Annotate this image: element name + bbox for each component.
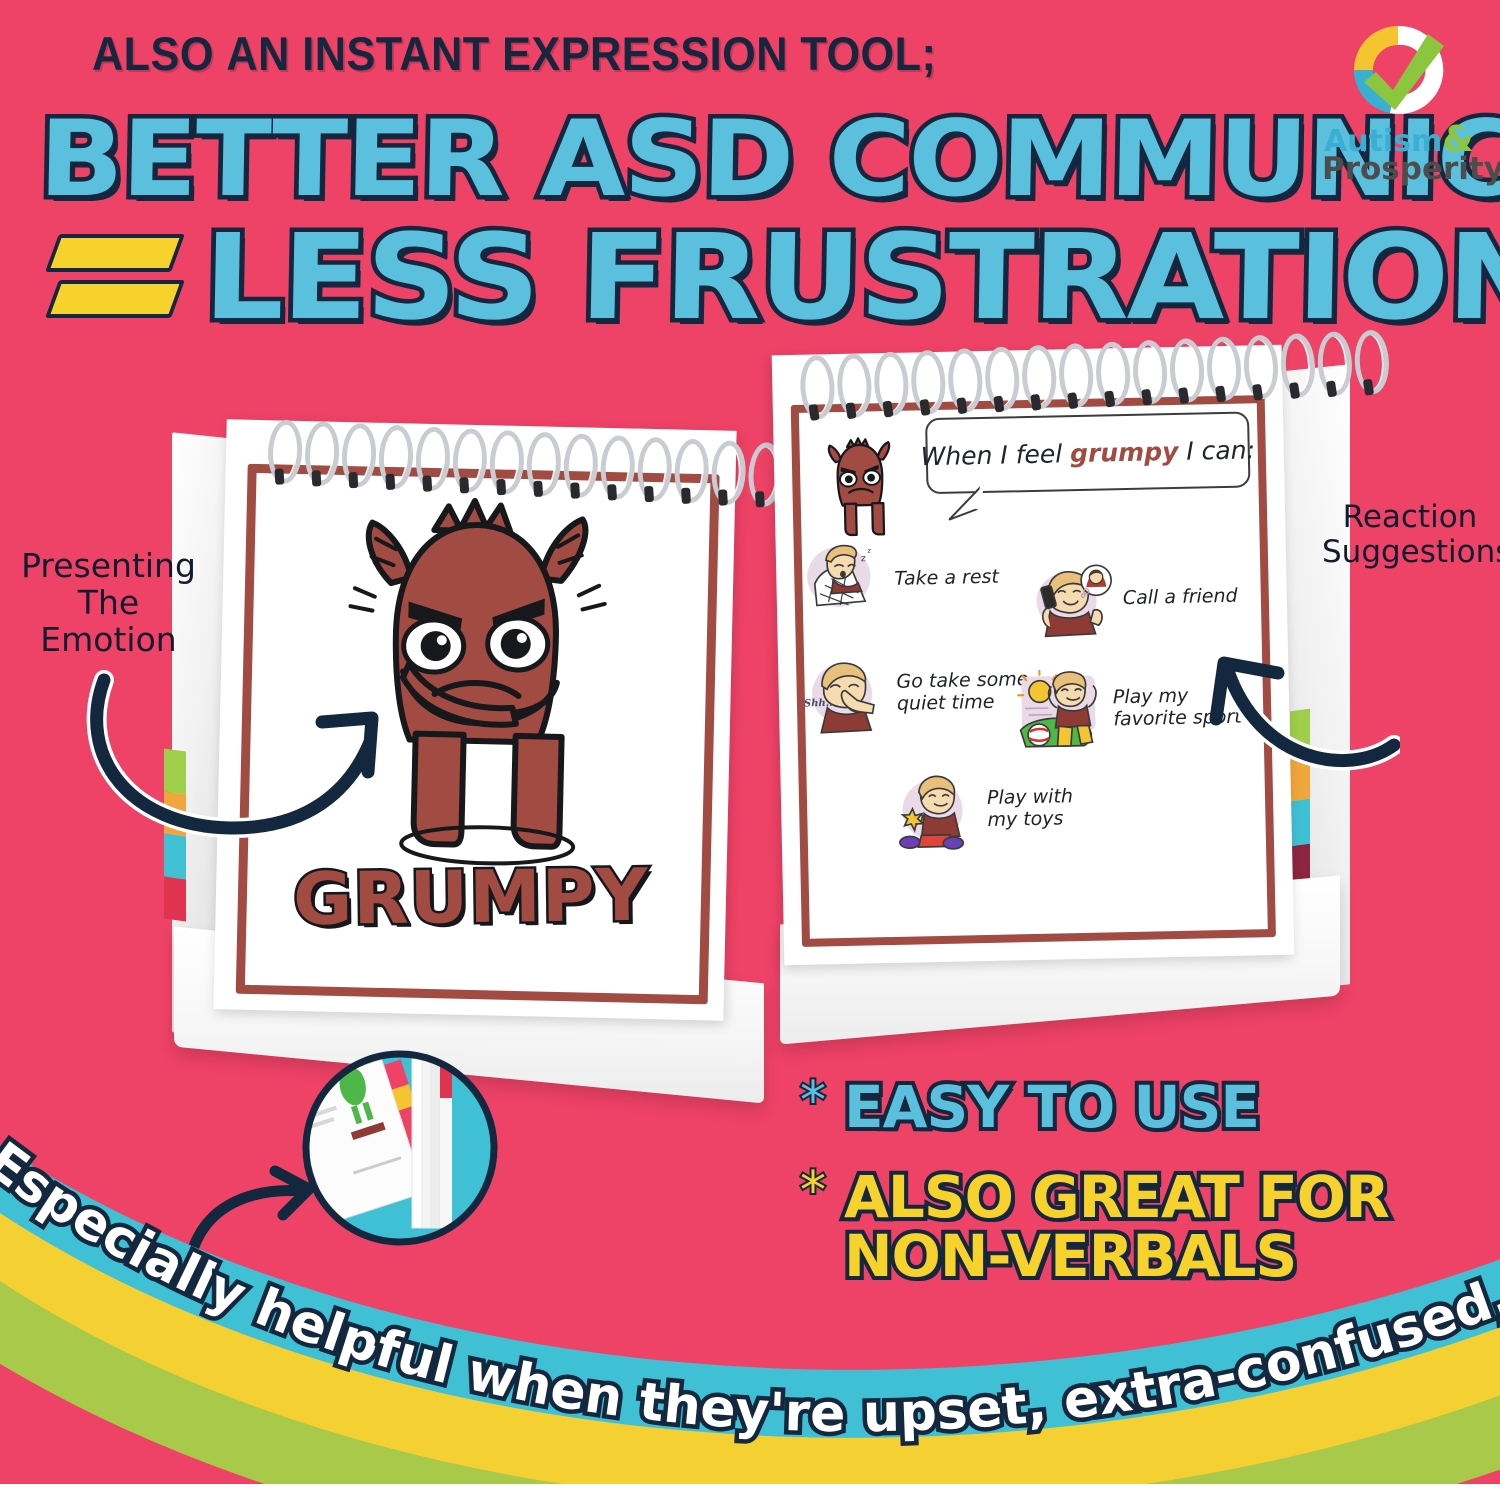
headline-line-2: LESS FRUSTRATIONS	[202, 208, 1500, 346]
grumpy-monster-small-icon	[813, 425, 907, 545]
boy-on-phone-icon	[1026, 558, 1114, 640]
checkmark-ring-icon	[1318, 18, 1478, 128]
suggestion-label: Take a rest	[894, 565, 999, 590]
eyebrow-part-2: INSTANT EXPRESSION TOOL;	[290, 27, 937, 80]
headline-line-1: BETTER ASD COMMUNICATION	[38, 98, 1500, 220]
suggestion-label: Go take some quiet time	[896, 668, 1029, 716]
svg-text:Shh..: Shh..	[804, 698, 833, 710]
equals-symbol-icon	[52, 232, 182, 322]
curved-arrow-right-icon	[70, 660, 400, 850]
suggestion-item: z z Take a rest	[798, 537, 1000, 621]
product-infographic: ALSO AN INSTANT EXPRESSION TOOL; BETTER …	[0, 0, 1500, 1498]
boy-with-toy-icon	[890, 769, 978, 851]
brand-logo: Autism& Prosperity	[1318, 18, 1478, 198]
bottom-white-strip	[0, 1484, 1500, 1498]
eyebrow-bold: AN	[226, 27, 289, 80]
curved-arrow-left-icon	[1190, 595, 1400, 775]
suggestion-item: Play with my toys	[890, 767, 1074, 851]
eyebrow-part-1: ALSO	[92, 27, 226, 80]
speech-bubble: When I feel grumpy I can:	[925, 411, 1251, 494]
annotation-reaction-suggestions: Reaction Suggestions	[1322, 500, 1498, 569]
emotion-highlight: grumpy	[1070, 436, 1179, 467]
svg-text:z: z	[861, 553, 866, 564]
emotion-label: GRUMPY	[215, 852, 726, 942]
annotation-presenting-the-emotion: Presenting The Emotion	[16, 548, 201, 659]
logo-text-line-2: Prosperity	[1322, 154, 1477, 185]
boy-shushing-icon: Shh..	[800, 653, 888, 735]
suggestion-label: Play with my toys	[987, 785, 1074, 832]
boy-sleeping-icon: z z	[798, 539, 886, 621]
eyebrow-text: ALSO AN INSTANT EXPRESSION TOOL;	[92, 26, 936, 81]
boy-playing-ball-icon	[1016, 669, 1104, 751]
suggestion-item: Shh.. Go take some quiet time	[800, 650, 1030, 735]
speech-bubble-text: When I feel grumpy I can:	[920, 435, 1255, 471]
svg-text:z: z	[867, 547, 871, 555]
speech-bubble-tail-icon	[942, 485, 989, 522]
bottom-banner: Especially helpful when they're upset, e…	[0, 1020, 1500, 1498]
